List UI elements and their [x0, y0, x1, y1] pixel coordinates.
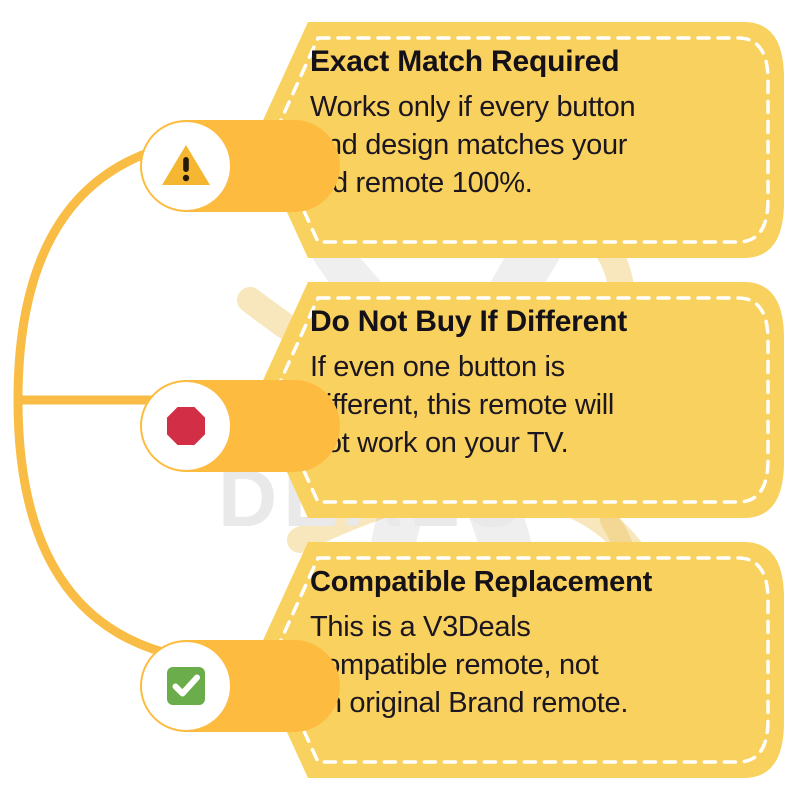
- icon-badge-stop-octagon: [142, 382, 230, 470]
- warning-triangle-icon: [159, 139, 213, 193]
- card-body-line: old remote 100%.: [310, 164, 762, 202]
- check-square-icon: [159, 659, 213, 713]
- tag-card-content: Exact Match Required Works only if every…: [310, 44, 762, 236]
- feature-row-exact-match-required: Exact Match Required Works only if every…: [0, 22, 800, 262]
- stop-octagon-icon: [159, 399, 213, 453]
- card-body: If even one button is different, this re…: [310, 348, 762, 462]
- tag-card-content: Compatible Replacement This is a V3Deals…: [310, 564, 762, 756]
- card-body-line: If even one button is: [310, 348, 762, 386]
- card-body: This is a V3Deals compatible remote, not…: [310, 608, 762, 722]
- card-title: Exact Match Required: [310, 44, 762, 80]
- card-body-line: not work on your TV.: [310, 424, 762, 462]
- card-body-line: Works only if every button: [310, 88, 762, 126]
- infographic-root: DEALS Exact Match Required Works only if…: [0, 0, 800, 800]
- card-body-line: an original Brand remote.: [310, 684, 762, 722]
- card-body: Works only if every button and design ma…: [310, 88, 762, 202]
- card-body-line: different, this remote will: [310, 386, 762, 424]
- feature-row-compatible-replacement: Compatible Replacement This is a V3Deals…: [0, 542, 800, 782]
- card-body-line: compatible remote, not: [310, 646, 762, 684]
- icon-badge-check-square: [142, 642, 230, 730]
- card-body-line: This is a V3Deals: [310, 608, 762, 646]
- tag-card-content: Do Not Buy If Different If even one butt…: [310, 304, 762, 496]
- card-title: Do Not Buy If Different: [310, 304, 762, 340]
- feature-row-do-not-buy-if-different: Do Not Buy If Different If even one butt…: [0, 282, 800, 522]
- card-title: Compatible Replacement: [310, 564, 762, 600]
- card-body-line: and design matches your: [310, 126, 762, 164]
- icon-badge-warning-triangle: [142, 122, 230, 210]
